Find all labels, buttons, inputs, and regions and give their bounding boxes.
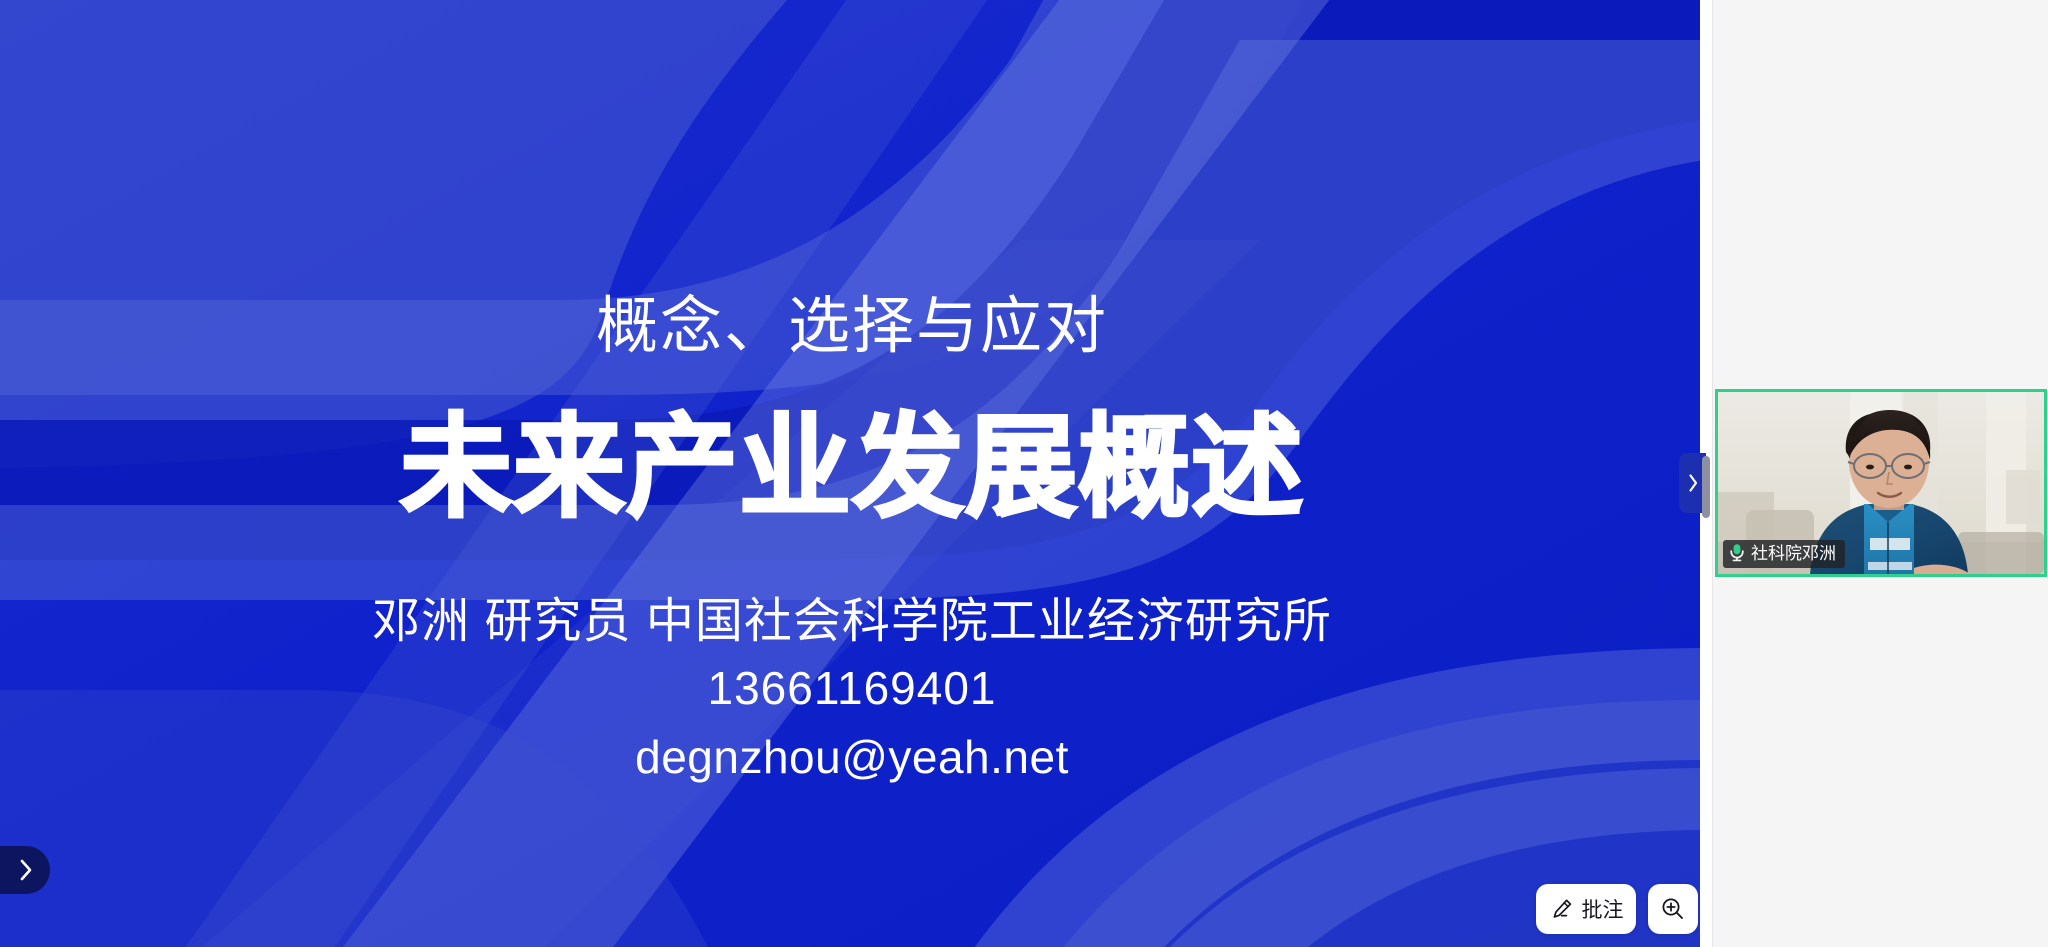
chevron-right-icon — [16, 856, 36, 884]
zoom-in-button[interactable] — [1648, 884, 1698, 934]
participant-video-tile[interactable]: 社科院邓洲 — [1715, 389, 2047, 577]
pen-icon — [1549, 896, 1575, 922]
magnifier-plus-icon — [1659, 895, 1687, 923]
chevron-right-icon — [1686, 472, 1700, 494]
slide-nav-button[interactable] — [0, 846, 50, 894]
participant-sidebar: 社科院邓洲 — [1712, 0, 2048, 947]
slide-toolbar: 批注 — [1536, 884, 1698, 934]
slide-background-artwork — [0, 0, 1704, 947]
presentation-viewer-window: 概念、选择与应对 未来产业发展概述 邓洲 研究员 中国社会科学院工业经济研究所 … — [0, 0, 2048, 947]
participant-name-label: 社科院邓洲 — [1751, 546, 1836, 563]
annotate-button-label: 批注 — [1582, 894, 1624, 924]
annotate-button[interactable]: 批注 — [1536, 884, 1636, 934]
microphone-icon — [1728, 542, 1746, 567]
stage-scrollbar-thumb[interactable] — [1702, 456, 1710, 518]
slide-stage[interactable]: 概念、选择与应对 未来产业发展概述 邓洲 研究员 中国社会科学院工业经济研究所 … — [0, 0, 1704, 947]
participant-name-chip: 社科院邓洲 — [1723, 540, 1845, 568]
